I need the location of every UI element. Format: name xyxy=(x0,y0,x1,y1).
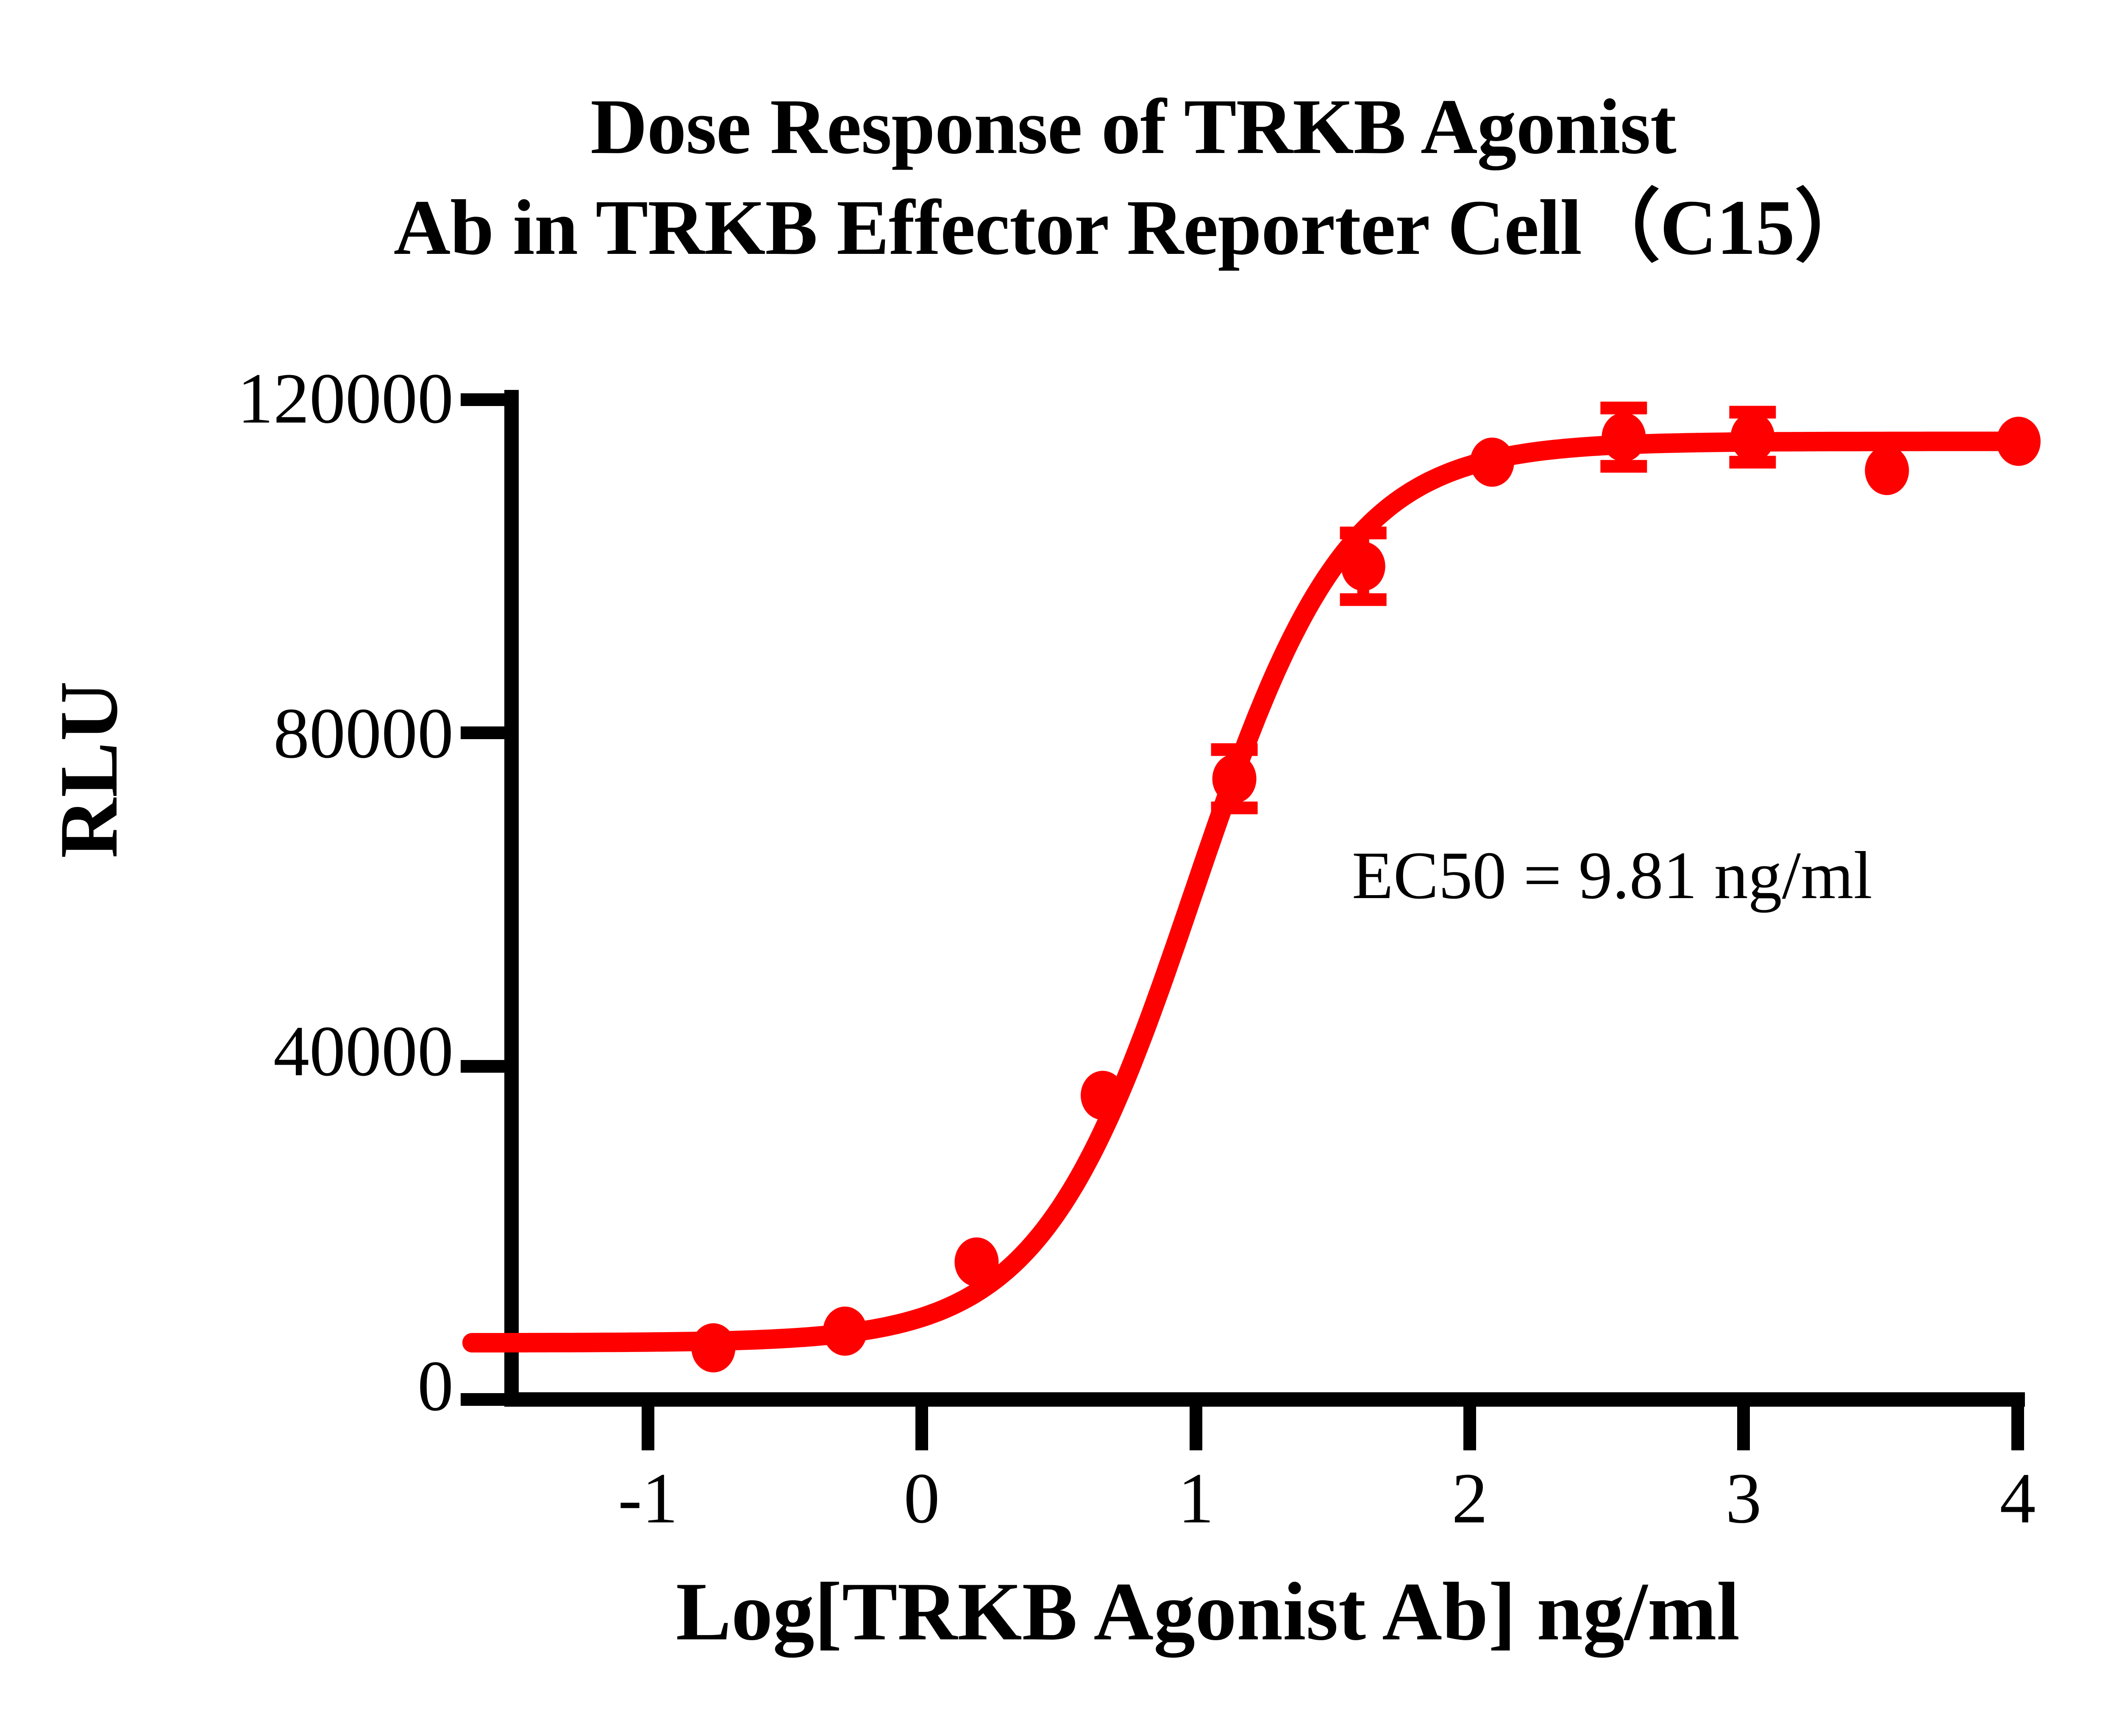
data-point xyxy=(691,1323,735,1372)
data-point xyxy=(1081,1071,1125,1120)
axis-lines xyxy=(504,390,2025,1399)
data-point xyxy=(1602,412,1646,462)
x-tick-marks xyxy=(648,1399,2018,1450)
data-point xyxy=(823,1307,867,1356)
data-point xyxy=(1865,446,1909,495)
plot-area xyxy=(0,0,2119,1736)
chart-figure: Dose Response of TRKB Agonist Ab in TRKB… xyxy=(0,0,2119,1736)
fit-curve xyxy=(472,441,2019,1343)
data-point xyxy=(1997,417,2041,466)
data-point xyxy=(1341,542,1385,591)
data-point xyxy=(954,1238,998,1287)
data-point xyxy=(1470,437,1514,487)
y-tick-marks xyxy=(461,400,512,1399)
data-series-trkb xyxy=(472,408,2041,1372)
data-point xyxy=(1730,412,1774,462)
data-point xyxy=(1212,754,1257,803)
